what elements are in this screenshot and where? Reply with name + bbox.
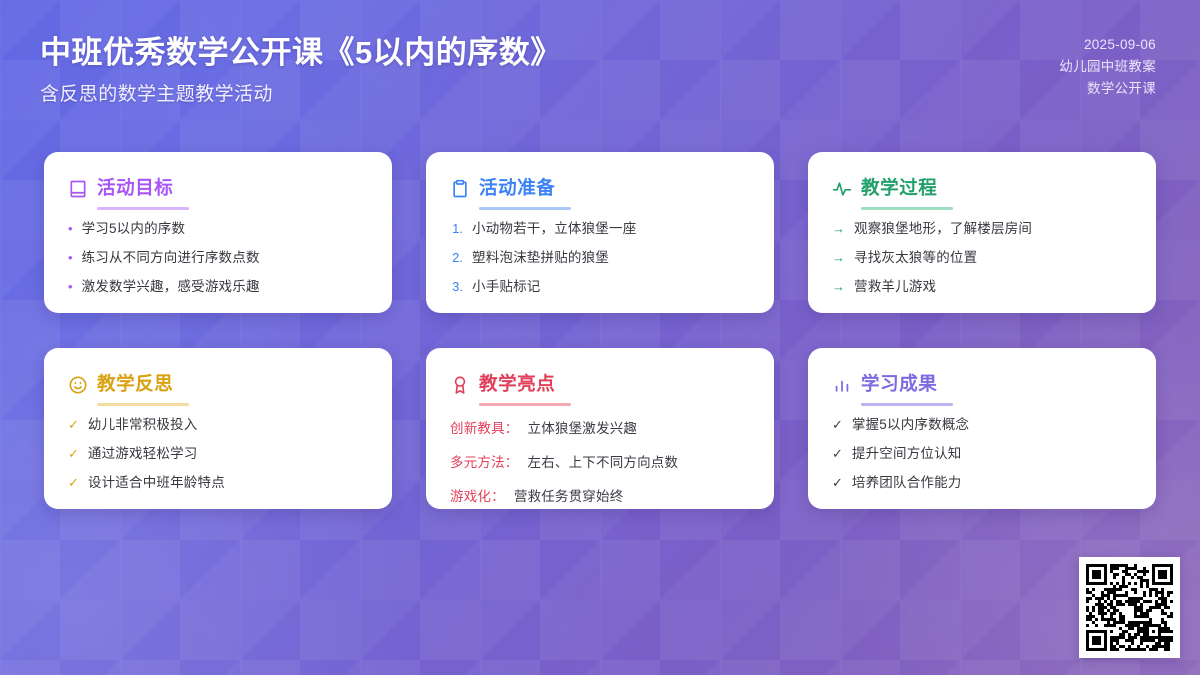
card-teaching-process: 教学过程 → 观察狼堡地形，了解楼层房间 → 寻找灰太狼等的位置 → 营救羊儿游… <box>808 152 1156 313</box>
card-header: 活动准备 <box>450 174 750 204</box>
list-item-text: 学习5以内的序数 <box>82 221 186 238</box>
card-items: ✓ 掌握5以内序数概念 ✓ 提升空间方位认知 ✓ 培养团队合作能力 <box>832 417 1132 492</box>
list-item-text: 塑料泡沫垫拼贴的狼堡 <box>472 250 609 267</box>
title-underline <box>479 207 571 210</box>
check-icon: ✓ <box>68 418 79 432</box>
cards-grid: 活动目标 • 学习5以内的序数 • 练习从不同方向进行序数点数 • 激发数学兴趣… <box>44 152 1156 509</box>
card-items: ✓ 幼儿非常积极投入 ✓ 通过游戏轻松学习 ✓ 设计适合中班年龄特点 <box>68 417 368 492</box>
list-item: 1. 小动物若干，立体狼堡一座 <box>450 221 750 238</box>
list-item: ✓ 设计适合中班年龄特点 <box>68 475 368 492</box>
page-header: 中班优秀数学公开课《5以内的序数》 含反思的数学主题教学活动 2025-09-0… <box>0 0 1200 140</box>
highlight-text: 立体狼堡激发兴趣 <box>528 421 638 438</box>
book-icon <box>68 179 88 199</box>
list-item: 2. 塑料泡沫垫拼贴的狼堡 <box>450 250 750 267</box>
page-subtitle: 含反思的数学主题教学活动 <box>40 79 562 106</box>
list-item-text: 提升空间方位认知 <box>852 446 962 463</box>
list-item: 创新教具： 立体狼堡激发兴趣 <box>450 417 750 438</box>
list-item-text: 通过游戏轻松学习 <box>88 446 198 463</box>
list-number: 3. <box>450 280 463 294</box>
list-item-text: 培养团队合作能力 <box>852 475 962 492</box>
arrow-icon: → <box>832 251 845 265</box>
smiley-icon <box>68 375 88 395</box>
check-icon: ✓ <box>68 476 79 490</box>
meta-type: 数学公开课 <box>1059 78 1156 100</box>
card-header: 活动目标 <box>68 174 368 204</box>
list-item: 3. 小手贴标记 <box>450 279 750 296</box>
list-item-text: 小动物若干，立体狼堡一座 <box>472 221 636 238</box>
list-item: → 营救羊儿游戏 <box>832 279 1132 296</box>
list-item: 游戏化： 营救任务贯穿始终 <box>450 485 750 506</box>
arrow-icon: → <box>832 280 845 294</box>
card-header: 教学过程 <box>832 174 1132 204</box>
card-title: 教学过程 <box>861 174 937 204</box>
card-title: 活动目标 <box>97 174 173 204</box>
bullet-icon: • <box>68 222 73 236</box>
list-item: 多元方法： 左右、上下不同方向点数 <box>450 451 750 472</box>
list-item-text: 寻找灰太狼等的位置 <box>854 250 977 267</box>
check-icon: ✓ <box>832 447 843 461</box>
meta-date: 2025-09-06 <box>1059 34 1156 56</box>
title-underline <box>861 207 953 210</box>
list-item-text: 观察狼堡地形，了解楼层房间 <box>854 221 1032 238</box>
list-number: 1. <box>450 222 463 236</box>
card-items: 创新教具： 立体狼堡激发兴趣 多元方法： 左右、上下不同方向点数 游戏化： 营救… <box>450 417 750 506</box>
list-item: • 练习从不同方向进行序数点数 <box>68 250 368 267</box>
card-header: 教学亮点 <box>450 370 750 400</box>
list-item: ✓ 培养团队合作能力 <box>832 475 1132 492</box>
activity-pulse-icon <box>832 179 852 199</box>
card-items: • 学习5以内的序数 • 练习从不同方向进行序数点数 • 激发数学兴趣，感受游戏… <box>68 221 368 296</box>
card-title: 教学亮点 <box>479 370 555 400</box>
card-teaching-reflection: 教学反思 ✓ 幼儿非常积极投入 ✓ 通过游戏轻松学习 ✓ 设计适合中班年龄特点 <box>44 348 392 509</box>
card-title: 活动准备 <box>479 174 555 204</box>
list-item-text: 设计适合中班年龄特点 <box>88 475 225 492</box>
list-item-text: 练习从不同方向进行序数点数 <box>82 250 260 267</box>
title-underline <box>479 403 571 406</box>
card-title: 教学反思 <box>97 370 173 400</box>
card-items: 1. 小动物若干，立体狼堡一座 2. 塑料泡沫垫拼贴的狼堡 3. 小手贴标记 <box>450 221 750 296</box>
list-item: → 寻找灰太狼等的位置 <box>832 250 1132 267</box>
card-title: 学习成果 <box>861 370 937 400</box>
header-text-block: 中班优秀数学公开课《5以内的序数》 含反思的数学主题教学活动 <box>40 34 562 106</box>
card-header: 学习成果 <box>832 370 1132 400</box>
list-item: ✓ 通过游戏轻松学习 <box>68 446 368 463</box>
list-item-text: 幼儿非常积极投入 <box>88 417 198 434</box>
qr-code-container[interactable] <box>1079 557 1180 658</box>
card-teaching-highlights: 教学亮点 创新教具： 立体狼堡激发兴趣 多元方法： 左右、上下不同方向点数 游戏… <box>426 348 774 509</box>
check-icon: ✓ <box>832 418 843 432</box>
card-activity-prep: 活动准备 1. 小动物若干，立体狼堡一座 2. 塑料泡沫垫拼贴的狼堡 3. 小手… <box>426 152 774 313</box>
list-item: • 激发数学兴趣，感受游戏乐趣 <box>68 279 368 296</box>
card-activity-goals: 活动目标 • 学习5以内的序数 • 练习从不同方向进行序数点数 • 激发数学兴趣… <box>44 152 392 313</box>
highlight-label: 创新教具： <box>450 417 519 437</box>
list-item-text: 掌握5以内序数概念 <box>852 417 969 434</box>
qr-code <box>1086 564 1173 651</box>
list-item: → 观察狼堡地形，了解楼层房间 <box>832 221 1132 238</box>
page-title: 中班优秀数学公开课《5以内的序数》 <box>40 34 562 73</box>
check-icon: ✓ <box>68 447 79 461</box>
meta-category: 幼儿园中班教案 <box>1059 56 1156 78</box>
bullet-icon: • <box>68 280 73 294</box>
highlight-text: 营救任务贯穿始终 <box>514 489 624 506</box>
list-item-text: 小手贴标记 <box>472 279 541 296</box>
bullet-icon: • <box>68 251 73 265</box>
highlight-label: 多元方法： <box>450 451 519 471</box>
list-number: 2. <box>450 251 463 265</box>
card-header: 教学反思 <box>68 370 368 400</box>
title-underline <box>861 403 953 406</box>
list-item: ✓ 掌握5以内序数概念 <box>832 417 1132 434</box>
card-items: → 观察狼堡地形，了解楼层房间 → 寻找灰太狼等的位置 → 营救羊儿游戏 <box>832 221 1132 296</box>
title-underline <box>97 403 189 406</box>
header-meta: 2025-09-06 幼儿园中班教案 数学公开课 <box>1059 34 1156 100</box>
list-item-text: 营救羊儿游戏 <box>854 279 936 296</box>
list-item: ✓ 提升空间方位认知 <box>832 446 1132 463</box>
card-learning-outcomes: 学习成果 ✓ 掌握5以内序数概念 ✓ 提升空间方位认知 ✓ 培养团队合作能力 <box>808 348 1156 509</box>
highlight-text: 左右、上下不同方向点数 <box>528 455 679 472</box>
award-medal-icon <box>450 375 470 395</box>
check-icon: ✓ <box>832 476 843 490</box>
bar-chart-icon <box>832 375 852 395</box>
list-item: • 学习5以内的序数 <box>68 221 368 238</box>
list-item: ✓ 幼儿非常积极投入 <box>68 417 368 434</box>
title-underline <box>97 207 189 210</box>
clipboard-icon <box>450 179 470 199</box>
list-item-text: 激发数学兴趣，感受游戏乐趣 <box>82 279 260 296</box>
highlight-label: 游戏化： <box>450 485 505 505</box>
poster-root: 中班优秀数学公开课《5以内的序数》 含反思的数学主题教学活动 2025-09-0… <box>0 0 1200 675</box>
arrow-icon: → <box>832 222 845 236</box>
